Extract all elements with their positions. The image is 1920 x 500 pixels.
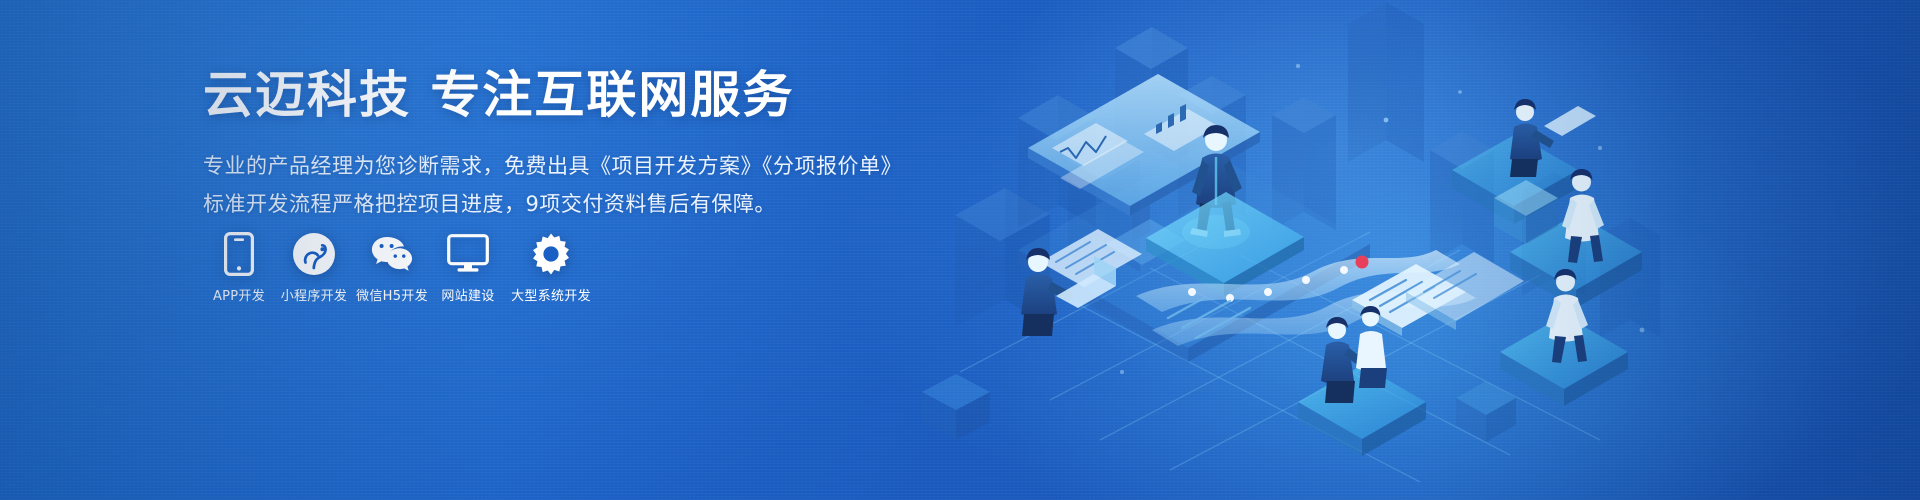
floor-grid — [960, 232, 1600, 482]
person-seated-left — [1021, 248, 1116, 336]
mobile-phone-icon — [217, 232, 261, 276]
person-pair-bottom — [1321, 306, 1387, 403]
service-item-app[interactable]: APP开发 — [203, 232, 275, 303]
service-list: APP开发 小程序开发 — [203, 232, 597, 303]
service-item-wechat-h5[interactable]: 微信H5开发 — [353, 232, 431, 303]
page-title: 云迈科技 专注互联网服务 — [203, 66, 963, 124]
info-card-window — [1406, 252, 1524, 330]
wechat-icon — [370, 232, 414, 276]
service-label: 微信H5开发 — [356, 290, 428, 303]
isometric-illustration — [900, 0, 1920, 500]
central-platform — [1018, 146, 1370, 362]
service-label: APP开发 — [213, 290, 265, 303]
glow-top-right — [980, 0, 1700, 420]
hero-banner: 云迈科技 专注互联网服务 专业的产品经理为您诊断需求，免费出具《项目开发方案》《… — [0, 0, 1920, 500]
right-podium-group — [1298, 134, 1642, 456]
glow-bottom-right — [1000, 170, 1820, 500]
tablet-card — [1352, 264, 1466, 336]
banner-text-block: 云迈科技 专注互联网服务 专业的产品经理为您诊断需求，免费出具《项目开发方案》《… — [203, 66, 963, 223]
person-standing-mid-right — [1562, 169, 1604, 263]
subtitle-line-2: 标准开发流程严格把控项目进度，9项交付资料售后有保障。 — [203, 185, 963, 223]
floating-particles — [1120, 64, 1644, 374]
gear-icon — [529, 232, 573, 276]
mini-program-icon — [292, 232, 336, 276]
person-presenter — [1182, 125, 1250, 249]
background-blocks — [955, 2, 1660, 337]
illustration-canvas — [900, 0, 1920, 500]
person-standing-lower-right — [1546, 269, 1588, 363]
dashboard-monitor — [1028, 0, 1260, 265]
service-label: 网站建设 — [441, 290, 494, 303]
decor-cube-left — [922, 374, 990, 440]
presenter-platform — [1146, 192, 1304, 296]
data-ribbon — [1136, 250, 1476, 346]
decor-cube-right — [1494, 180, 1558, 244]
desk-documents — [1040, 229, 1142, 287]
service-label: 小程序开发 — [281, 290, 348, 303]
service-label: 大型系统开发 — [511, 290, 591, 303]
service-item-large-system[interactable]: 大型系统开发 — [505, 232, 597, 303]
monitor-icon — [446, 232, 490, 276]
person-seated-upper-right — [1510, 99, 1596, 177]
service-item-mini-program[interactable]: 小程序开发 — [275, 232, 353, 303]
decor-cube-bottom-right — [1456, 381, 1516, 442]
subtitle-line-1: 专业的产品经理为您诊断需求，免费出具《项目开发方案》《分项报价单》 — [203, 147, 963, 185]
service-item-website[interactable]: 网站建设 — [431, 232, 505, 303]
